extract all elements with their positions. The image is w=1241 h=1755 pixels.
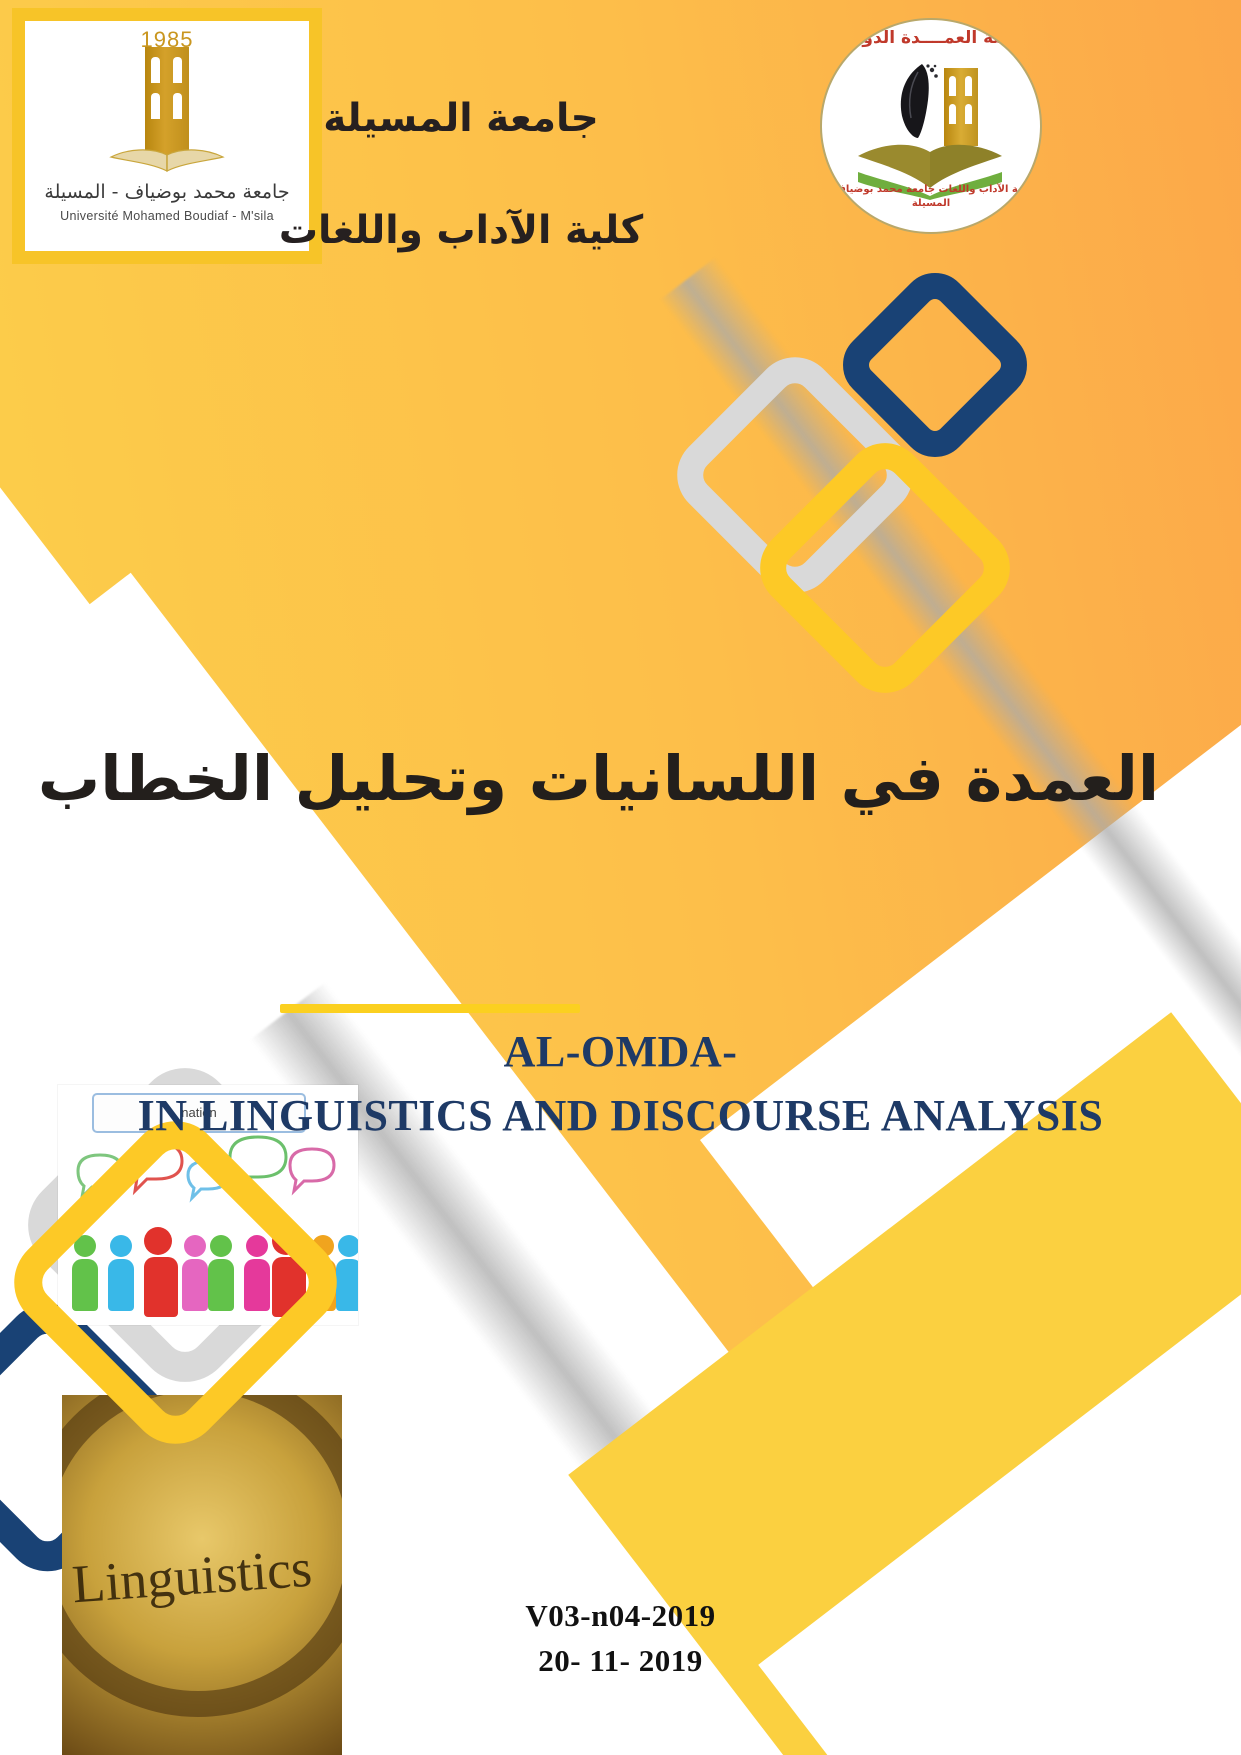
logo-name-arabic: جامعة محمد بوضياف - المسيلة: [25, 181, 309, 203]
linguistics-coin-image: Linguistics: [62, 1395, 342, 1755]
header-university-arabic: جامعة المسيلة: [201, 96, 721, 141]
seal-bottom-text: كلية الآداب واللغات جامعة محمد بوضياف- ا…: [822, 183, 1040, 210]
journal-cover-page: nation Linguistics: [0, 0, 1241, 1755]
open-book-icon: [107, 149, 227, 175]
page-title-english-line2: IN LINGUISTICS AND DISCOURSE ANALYSIS: [0, 1090, 1241, 1141]
page-title-arabic: العمدة في اللسانيات وتحليل الخطاب: [0, 742, 1241, 815]
page-title-english-line1: AL-OMDA-: [0, 1026, 1241, 1077]
tower-icon: [145, 47, 189, 157]
quill-feather-icon: [892, 62, 938, 140]
seal-top-text: مجلة العمــــدة الدولية: [822, 28, 1040, 48]
footer-volume-date: V03-n04-2019 20- 11- 2019: [0, 1594, 1241, 1684]
title-divider: [280, 1004, 580, 1013]
header-faculty-arabic: كلية الآداب واللغات: [201, 208, 721, 253]
journal-seal-logo: مجلة العمــــدة الدولية كلية الآداب والل…: [820, 18, 1042, 234]
issue-date: 20- 11- 2019: [0, 1639, 1241, 1684]
seal-minaret-icon: [944, 68, 978, 146]
volume-number: V03-n04-2019: [0, 1594, 1241, 1639]
